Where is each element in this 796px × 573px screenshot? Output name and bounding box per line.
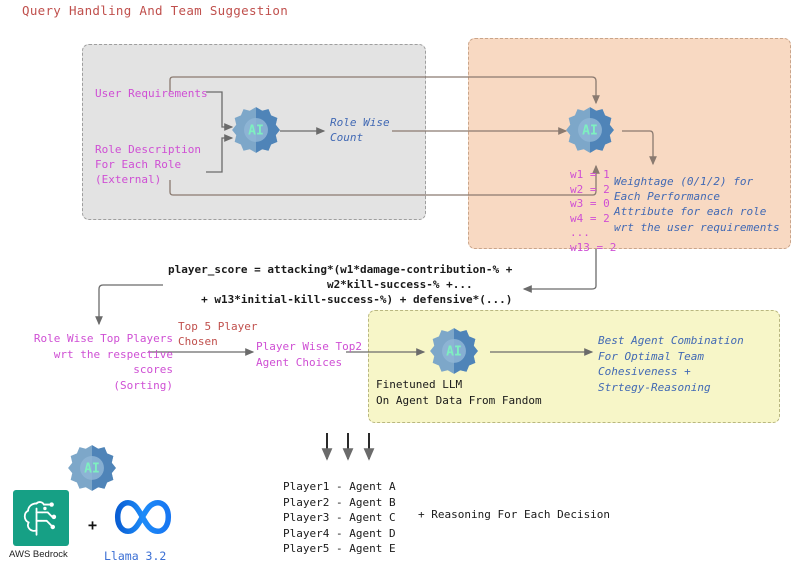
role-wise-top-players-label: Role Wise Top Players wrt the respective… — [10, 331, 173, 393]
diagram-canvas: Query Handling And Team Suggestion — [0, 0, 796, 573]
ai-node-query-icon: AI — [230, 105, 282, 157]
svg-text:AI: AI — [582, 124, 598, 139]
player-wise-top2-label: Player Wise Top2 Agent Choices — [256, 339, 362, 370]
plus-separator: + — [88, 516, 97, 534]
ai-node-finetuned-llm-icon: AI — [428, 326, 480, 378]
finetuned-llm-caption: Finetuned LLM On Agent Data From Fandom — [376, 377, 542, 408]
role-description-label: Role Description For Each Role (External… — [95, 142, 201, 187]
llama-label: Llama 3.2 — [104, 549, 166, 563]
weightage-description: Weightage (0/1/2) for Each Performance A… — [614, 174, 780, 235]
aws-bedrock-icon — [13, 490, 69, 546]
reasoning-note: + Reasoning For Each Decision — [418, 507, 610, 523]
svg-text:AI: AI — [84, 462, 100, 477]
weights-list: w1 = 1 w2 = 2 w3 = 0 w4 = 2 ... w13 = 2 — [570, 168, 616, 256]
ai-node-tech-stack-icon: AI — [66, 443, 118, 495]
role-wise-count-label: Role Wise Count — [330, 115, 390, 145]
user-requirements-label: User Requirements — [95, 86, 208, 101]
svg-text:AI: AI — [446, 345, 462, 360]
svg-text:AI: AI — [248, 124, 264, 139]
aws-bedrock-label: AWS Bedrock — [9, 549, 68, 560]
top5-player-chosen-label: Top 5 Player Chosen — [178, 319, 257, 349]
page-title: Query Handling And Team Suggestion — [22, 3, 288, 18]
llama-meta-icon — [110, 494, 176, 544]
player-score-formula: player_score = attacking*(w1*damage-cont… — [168, 262, 512, 307]
ai-node-weightage-icon: AI — [564, 105, 616, 157]
best-agent-combination-label: Best Agent Combination For Optimal Team … — [598, 333, 744, 395]
player-agent-assignments: Player1 - Agent A Player2 - Agent B Play… — [283, 479, 396, 557]
